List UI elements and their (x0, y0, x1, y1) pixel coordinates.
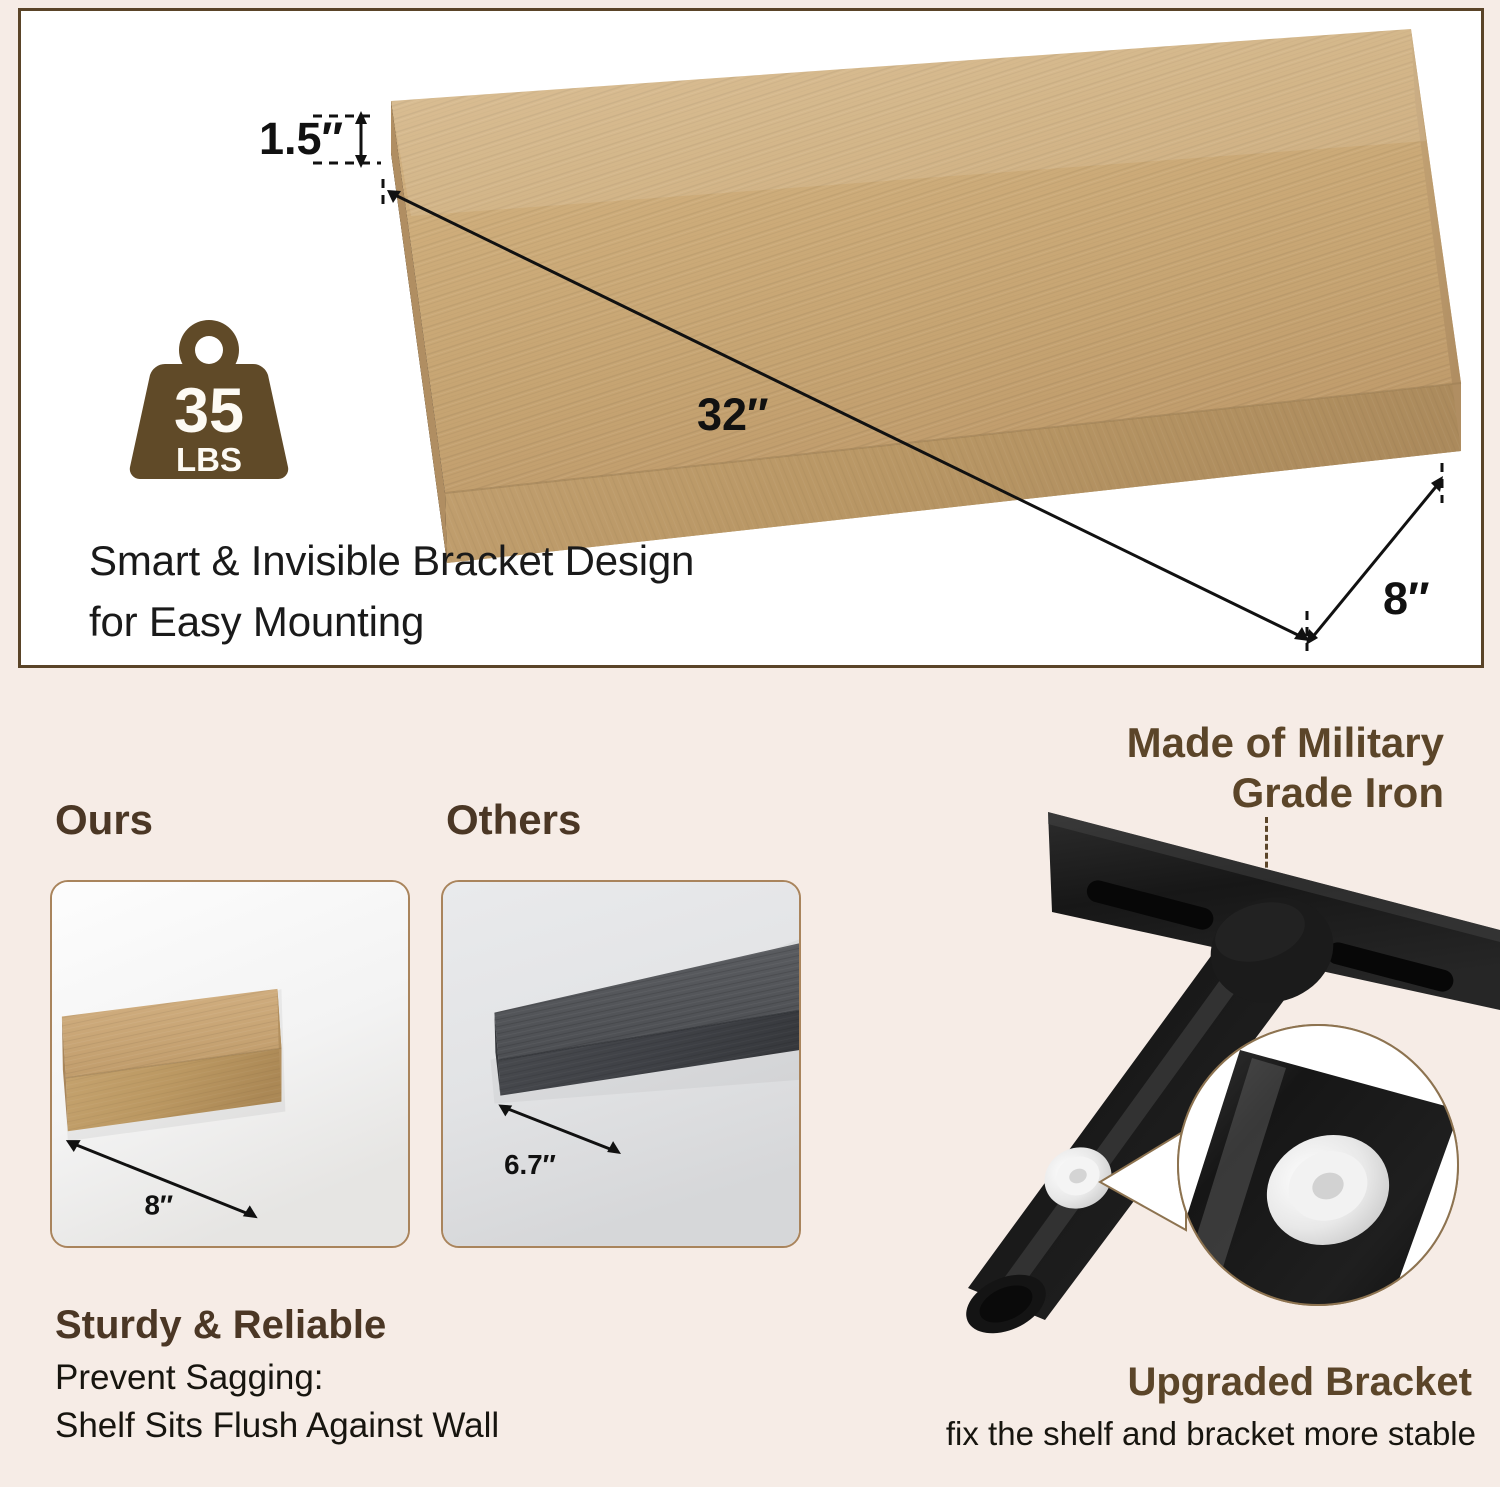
sturdy-subtitle-line-1: Prevent Sagging: (55, 1358, 324, 1398)
hero-headline: Smart & Invisible Bracket Design for Eas… (89, 531, 909, 653)
sturdy-subtitle-line-2: Shelf Sits Flush Against Wall (55, 1406, 499, 1446)
headline-line-1: Smart & Invisible Bracket Design (89, 531, 909, 592)
sturdy-title: Sturdy & Reliable (55, 1303, 386, 1348)
bracket-illustration (900, 800, 1500, 1360)
hero-panel: 1.5″ 32″ 8″ 35 LBS Smart & Invisible Bra… (18, 8, 1484, 668)
ours-measurement: 8″ (144, 1189, 173, 1220)
dimension-thickness-label: 1.5″ (259, 113, 343, 165)
weight-value: 35 (174, 376, 244, 446)
weight-capacity-icon: 35 LBS (129, 316, 289, 491)
comparison-card-others: 6.7″ (441, 880, 801, 1248)
others-measurement: 6.7″ (504, 1149, 556, 1180)
military-title-line-1: Made of Military (824, 718, 1444, 768)
comparison-card-ours: 8″ (50, 880, 410, 1248)
comparison-heading-others: Others (446, 796, 581, 844)
upgraded-bracket-title: Upgraded Bracket (1127, 1360, 1472, 1405)
headline-line-2: for Easy Mounting (89, 592, 909, 653)
dimension-depth-label: 8″ (1383, 573, 1430, 625)
comparison-heading-ours: Ours (55, 796, 153, 844)
dimension-length-label: 32″ (697, 389, 769, 441)
weight-unit: LBS (176, 441, 242, 478)
shelf-illustration (351, 8, 1481, 621)
others-shelf-image: 6.7″ (443, 882, 799, 1246)
upgraded-bracket-subtitle: fix the shelf and bracket more stable (946, 1415, 1476, 1453)
ours-shelf-image: 8″ (52, 882, 408, 1246)
